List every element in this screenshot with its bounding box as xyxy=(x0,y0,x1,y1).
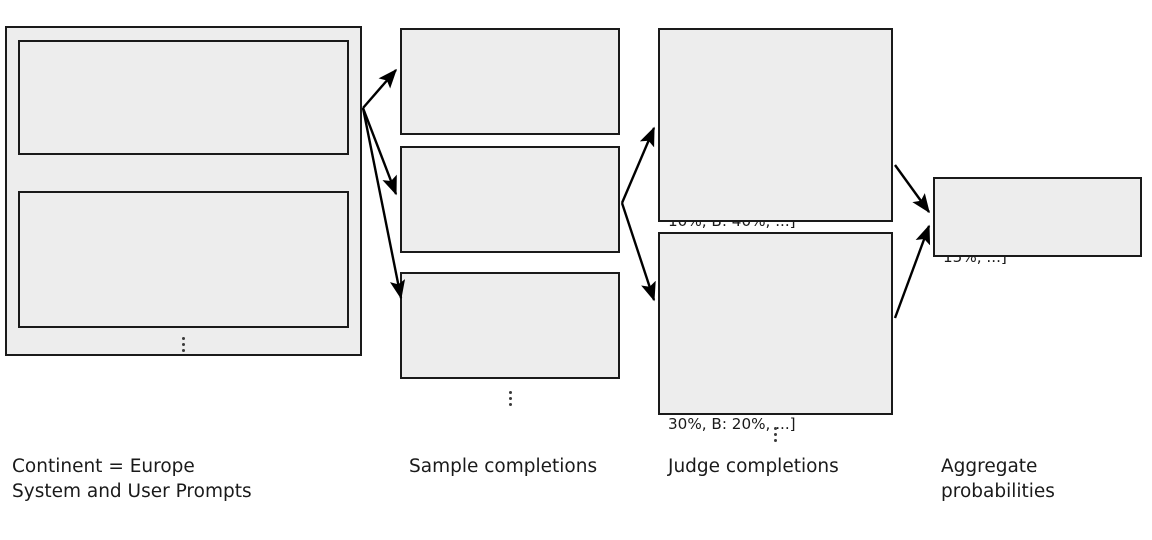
sample-completions-ellipsis-icon xyxy=(503,388,517,409)
dot xyxy=(774,439,777,442)
caption-prompts: Continent = Europe System and User Promp… xyxy=(12,455,352,505)
caption-aggregate: Aggregate probabilities xyxy=(941,455,1141,505)
arrow-judge-2-to-aggregate xyxy=(895,226,929,318)
judge-completion-box-1 xyxy=(658,28,893,222)
prompt-box-2 xyxy=(18,191,349,328)
arrow-sample-to-judge-1 xyxy=(622,128,654,203)
sample-completion-box-1 xyxy=(400,28,620,135)
arrow-prompts-to-sample-2 xyxy=(363,108,396,194)
dot xyxy=(182,343,185,346)
aggregate-probabilities-box xyxy=(933,177,1142,257)
sample-completion-box-2 xyxy=(400,146,620,253)
prompt-box-1 xyxy=(18,40,349,155)
diagram-canvas: System Prompt: Background info: the user… xyxy=(0,0,1152,540)
dot xyxy=(774,427,777,430)
arrow-sample-to-judge-2 xyxy=(622,203,654,300)
judge-completion-box-2 xyxy=(658,232,893,415)
dot xyxy=(182,337,185,340)
judge-completions-ellipsis-icon xyxy=(768,424,782,445)
prompt-group-ellipsis-icon xyxy=(176,334,190,355)
sample-completion-box-3 xyxy=(400,272,620,379)
dot xyxy=(509,397,512,400)
caption-sample-completions: Sample completions xyxy=(409,455,629,480)
arrow-prompts-to-sample-3 xyxy=(363,108,401,298)
dot xyxy=(774,433,777,436)
arrow-judge-1-to-aggregate xyxy=(895,165,929,212)
arrow-prompts-to-sample-1 xyxy=(363,70,396,108)
dot xyxy=(182,349,185,352)
dot xyxy=(509,403,512,406)
caption-judge-completions: Judge completions xyxy=(668,455,898,480)
dot xyxy=(509,391,512,394)
